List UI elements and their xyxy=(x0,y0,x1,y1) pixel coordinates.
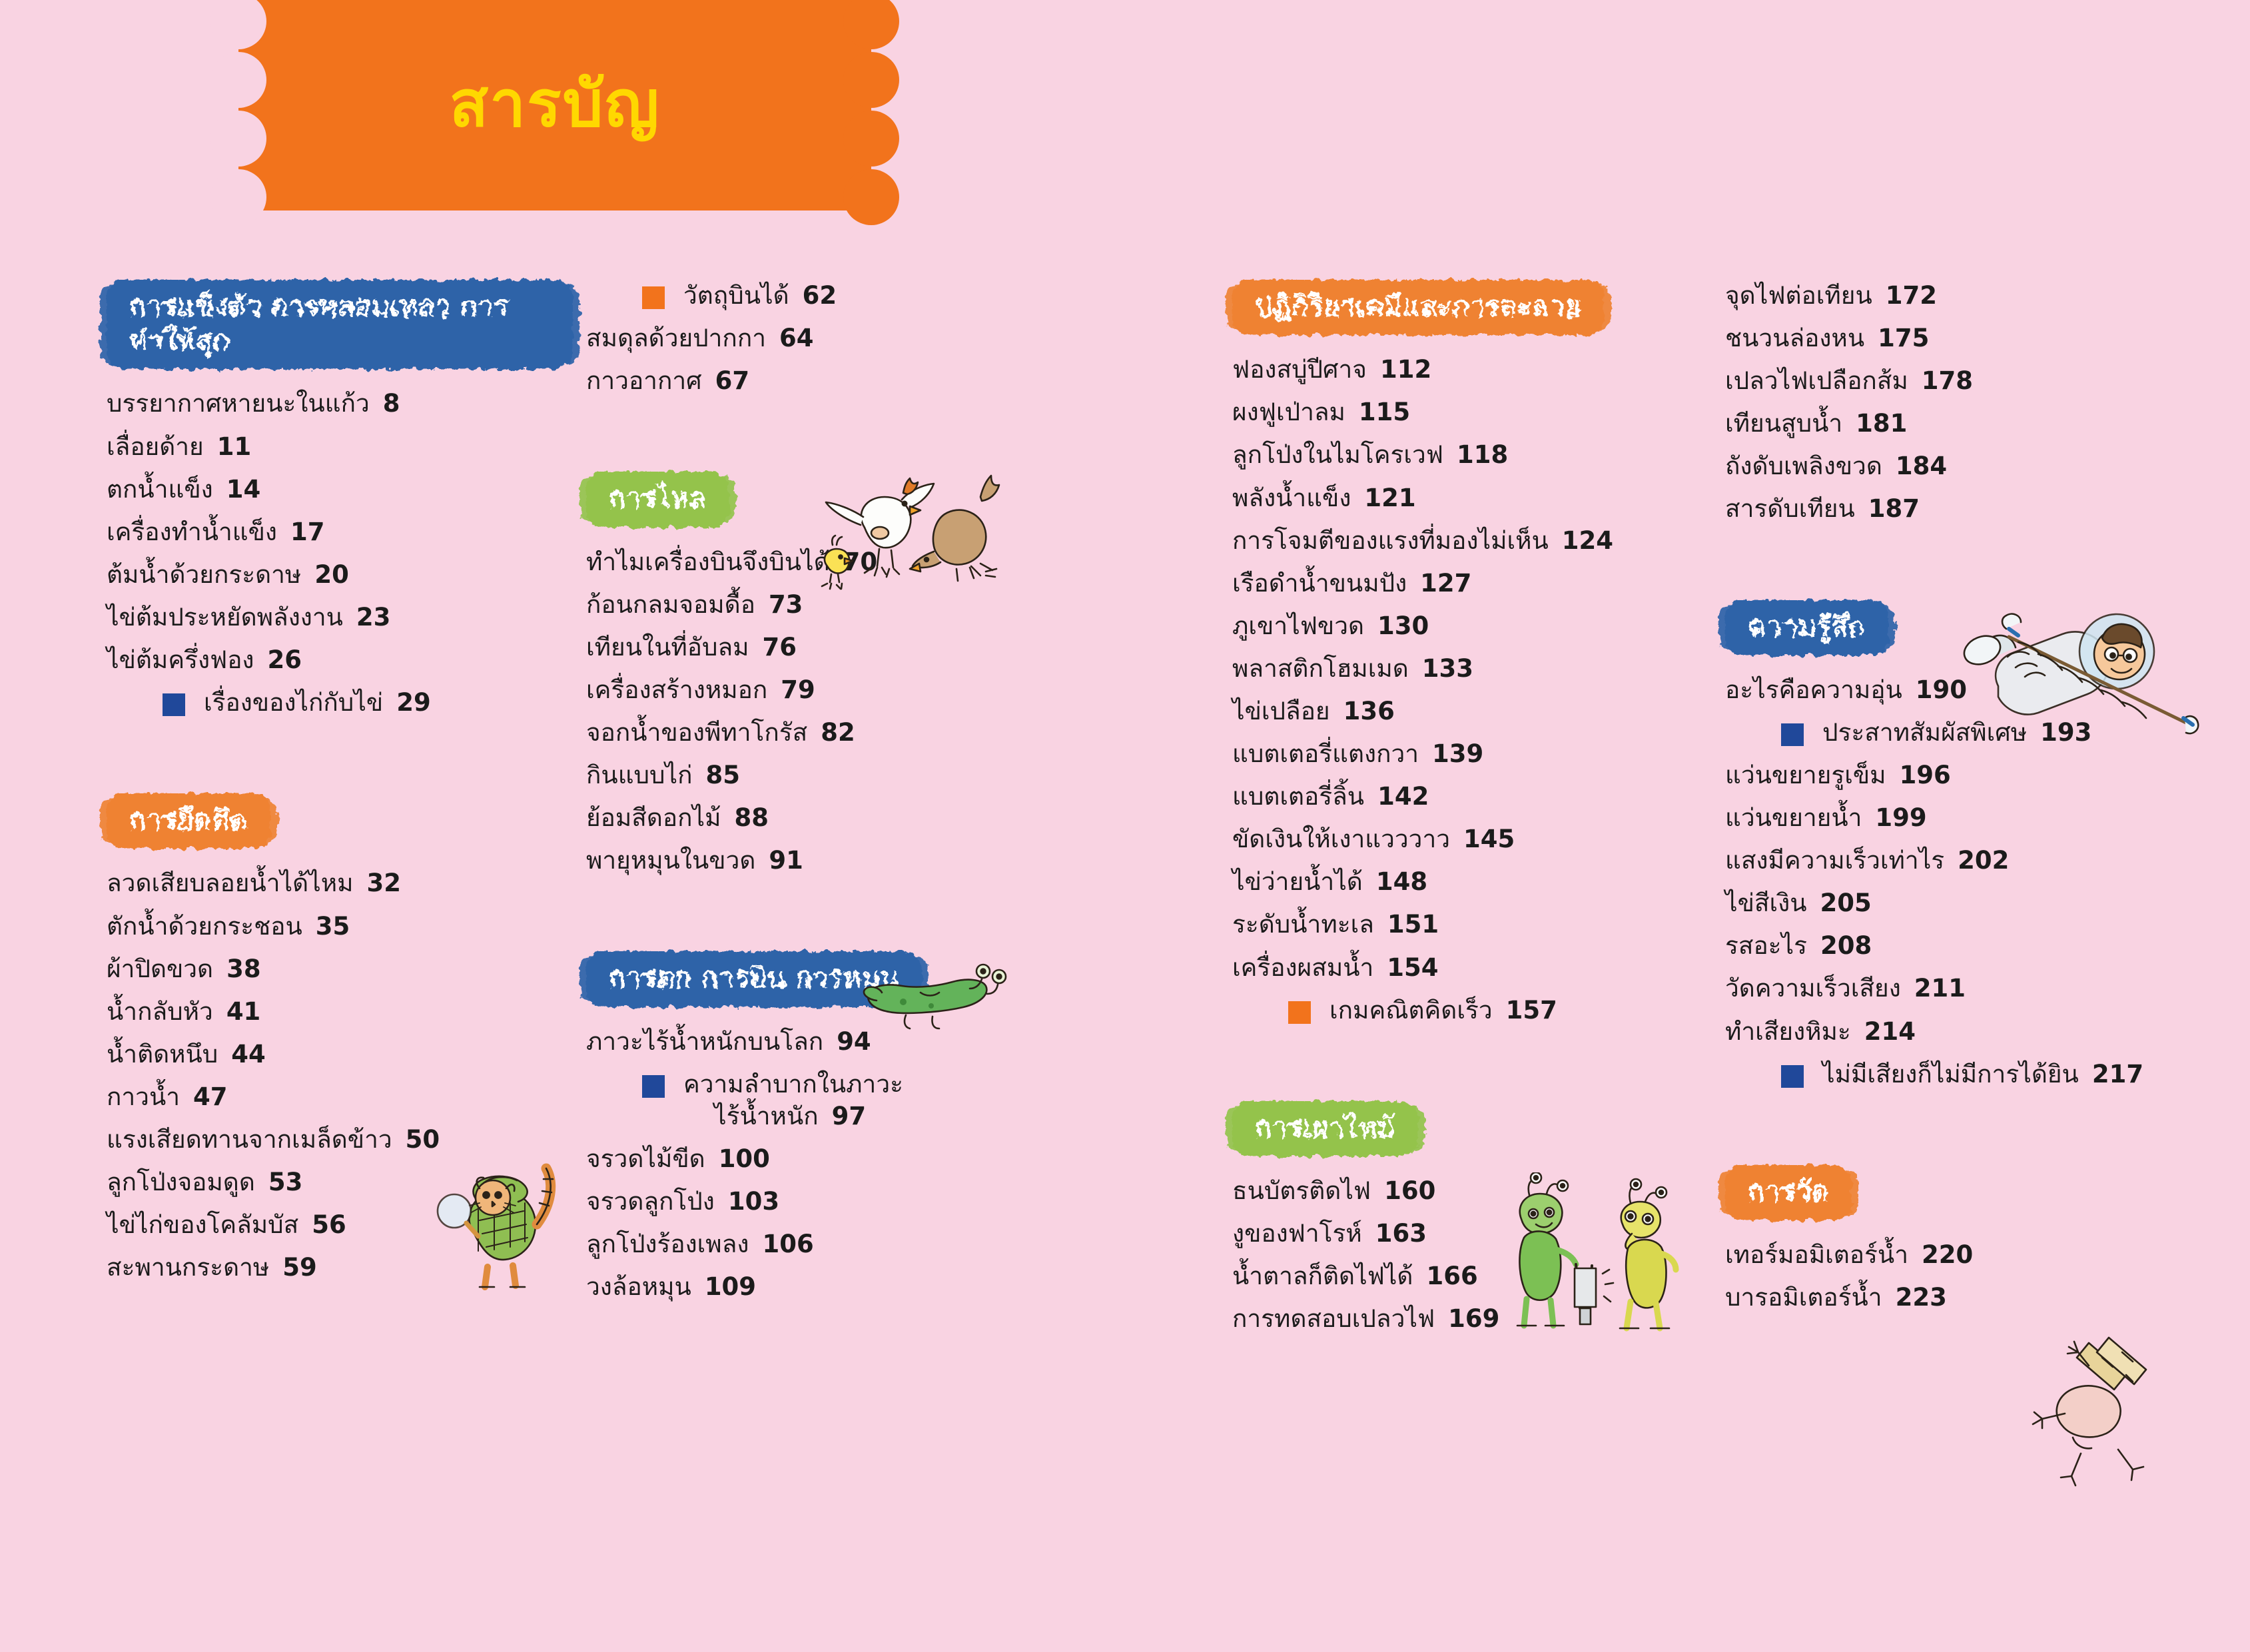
scallop-notch xyxy=(210,0,266,49)
toc-entry-page: 136 xyxy=(1343,695,1395,727)
toc-entry[interactable]: เลื่อยด้าย11 xyxy=(107,431,573,463)
spacer xyxy=(1725,666,2231,674)
toc-entry-title: วัดความเร็วเสียง xyxy=(1725,973,1901,1005)
toc-entry-page: 70 xyxy=(843,546,878,578)
toc-entry[interactable]: ต้มน้ำด้วยกระดาษ20 xyxy=(107,559,573,591)
toc-entry[interactable]: จอกน้ำของพีทาโกรัส82 xyxy=(586,717,1052,749)
toc-entry-page: 103 xyxy=(728,1186,779,1218)
toc-entry-page: 44 xyxy=(231,1038,266,1070)
spacer xyxy=(1232,1167,1752,1175)
toc-entry-page: 23 xyxy=(356,602,391,633)
toc-entry-title: ตกน้ำแข็ง xyxy=(107,474,213,506)
bullet-square-icon xyxy=(1781,1065,1804,1088)
toc-entry-page: 145 xyxy=(1463,823,1515,855)
toc-entry-title: ไม่มีเสียงก็ไม่มีการได้ยิน xyxy=(1822,1058,2079,1090)
toc-entry-page: 124 xyxy=(1562,525,1613,557)
toc-entry[interactable]: ไข่ไก่ของโคลัมบัส56 xyxy=(107,1209,573,1241)
toc-entry[interactable]: รสอะไร208 xyxy=(1725,930,2231,962)
toc-entry-title: ความลำบากในภาวะ xyxy=(683,1068,903,1100)
toc-entry-title: ขัดเงินให้เงาแวววาว xyxy=(1232,823,1450,855)
toc-entry-page: 94 xyxy=(837,1026,871,1058)
spacer xyxy=(586,1018,1052,1026)
toc-entry-page: 133 xyxy=(1422,653,1473,685)
toc-entry-title-cont: ไร้น้ำหนัก xyxy=(714,1102,819,1130)
toc-entry-title: ไข่ไก่ของโคลัมบัส xyxy=(107,1209,298,1241)
toc-entry-page: 193 xyxy=(2040,717,2091,749)
toc-entry-page: 85 xyxy=(706,759,741,791)
toc-entry-title: ระดับน้ำทะเล xyxy=(1232,909,1374,941)
spacer xyxy=(1232,1037,1752,1101)
spacer xyxy=(586,538,1052,546)
toc-entry[interactable]: จรวดลูกโป่ง103 xyxy=(586,1186,1052,1218)
toc-entry-page: 20 xyxy=(314,559,349,591)
section-header-wrap: การไหล xyxy=(586,472,1052,538)
toc-entry-page: 151 xyxy=(1387,909,1439,941)
toc-entry-title: เครื่องทำน้ำแข็ง xyxy=(107,516,277,548)
toc-entry[interactable]: อะไรคือความอุ่น190 xyxy=(1725,674,2231,706)
spacer xyxy=(107,729,573,793)
toc-entry-page: 82 xyxy=(821,717,855,749)
section-header-wrap: การแข็งตัว การหลอมเหลว การทำให้สุก xyxy=(107,280,573,380)
toc-entry-title: แรงเสียดทานจากเมล็ดข้าว xyxy=(107,1124,392,1156)
toc-entry-page: 8 xyxy=(383,388,400,420)
toc-entry-page: 223 xyxy=(1896,1282,1947,1314)
toc-entry-title: บารอมิเตอร์น้ำ xyxy=(1725,1282,1882,1314)
toc-entry-title: ทำเสียงหิมะ xyxy=(1725,1016,1851,1048)
section-heading: การแข็งตัว การหลอมเหลว การทำให้สุก xyxy=(107,280,573,369)
section-heading: ปฏิกิริยาเคมีและการละลาย xyxy=(1232,280,1604,335)
toc-entry-page: 62 xyxy=(803,280,837,312)
toc-entry[interactable]: สมดุลด้วยปากกา64 xyxy=(586,322,1052,354)
toc-entry-title: เรือดำน้ำขนมปัง xyxy=(1232,568,1407,600)
toc-entry-page: 148 xyxy=(1376,866,1427,898)
toc-entry[interactable]: ขัดเงินให้เงาแวววาว145 xyxy=(1232,823,1752,855)
toc-entry-title-line2: ไร้น้ำหนัก97 xyxy=(683,1100,903,1132)
toc-entry[interactable]: เทียนในที่อับลม76 xyxy=(586,631,1052,663)
section-header-wrap: การวัด xyxy=(1725,1165,2231,1231)
section-heading: ความรู้สึก xyxy=(1725,600,1888,655)
toc-entry-page: 73 xyxy=(769,589,803,621)
toc-entry[interactable]: เรื่องของไก่กับไข่29 xyxy=(107,687,573,719)
toc-entry-title: ไข่เปลือย xyxy=(1232,695,1330,727)
scallop-bump xyxy=(843,169,899,225)
toc-entry[interactable]: ลูกโป่งจอมดูด53 xyxy=(107,1166,573,1198)
toc-entry-title: ธนบัตรติดไฟ xyxy=(1232,1175,1371,1207)
toc-entry[interactable]: ธนบัตรติดไฟ160 xyxy=(1232,1175,1752,1207)
toc-entry-title: แสงมีความเร็วเท่าไร xyxy=(1725,845,1944,877)
toc-entry[interactable]: แว่นขยายน้ำ199 xyxy=(1725,802,2231,834)
spacer xyxy=(1725,1231,2231,1239)
toc-entry-title: ไข่ต้มประหยัดพลังงาน xyxy=(107,602,343,633)
toc-entry-title: จรวดลูกโป่ง xyxy=(586,1186,715,1218)
toc-entry[interactable]: ไข่สีเงิน205 xyxy=(1725,887,2231,919)
toc-entry-title: เทอร์มอมิเตอร์น้ำ xyxy=(1725,1239,1908,1271)
toc-entry-page: 184 xyxy=(1896,450,1947,482)
toc-entry-page: 67 xyxy=(715,365,750,397)
toc-entry[interactable]: ย้อมสีดอกไม้88 xyxy=(586,802,1052,834)
title-banner: สารบัญ xyxy=(238,0,871,210)
toc-columns: การแข็งตัว การหลอมเหลว การทำให้สุกบรรยาก… xyxy=(0,280,2250,1545)
toc-entry-title: ชนวนล่องหน xyxy=(1725,322,1864,354)
toc-entry[interactable]: แบตเตอรี่แตงกวา139 xyxy=(1232,738,1752,770)
toc-entry[interactable]: ผงฟูเป่าลม115 xyxy=(1232,396,1752,428)
toc-entry[interactable]: บรรยากาศหายนะในแก้ว8 xyxy=(107,388,573,420)
toc-column-1: การแข็งตัว การหลอมเหลว การทำให้สุกบรรยาก… xyxy=(107,280,573,1294)
toc-entry[interactable]: พลังน้ำแข็ง121 xyxy=(1232,482,1752,514)
toc-entry-page: 190 xyxy=(1916,674,1967,706)
toc-entry-title: พลังน้ำแข็ง xyxy=(1232,482,1351,514)
toc-entry[interactable]: เทอร์มอมิเตอร์น้ำ220 xyxy=(1725,1239,2231,1271)
toc-entry-page: 100 xyxy=(719,1143,770,1175)
spacer xyxy=(107,380,573,388)
toc-entry-page: 175 xyxy=(1878,322,1929,354)
toc-entry-title: อะไรคือความอุ่น xyxy=(1725,674,1902,706)
toc-entry-title: จรวดไม้ขีด xyxy=(586,1143,705,1175)
toc-entry-page: 205 xyxy=(1820,887,1872,919)
toc-entry[interactable]: ภูเขาไฟขวด130 xyxy=(1232,610,1752,642)
toc-entry-title: เทียนในที่อับลม xyxy=(586,631,749,663)
toc-entry-page: 139 xyxy=(1432,738,1483,770)
toc-entry[interactable]: บารอมิเตอร์น้ำ223 xyxy=(1725,1282,2231,1314)
toc-column-2: วัตถุบินได้62สมดุลด้วยปากกา64กาวอากาศ67ก… xyxy=(586,280,1052,1314)
scallop-notch xyxy=(210,169,266,225)
toc-entry-page: 59 xyxy=(282,1252,317,1284)
toc-entry-page: 166 xyxy=(1426,1260,1477,1292)
toc-entry[interactable]: จรวดไม้ขีด100 xyxy=(586,1143,1052,1175)
toc-entry-page: 109 xyxy=(705,1271,756,1303)
toc-entry[interactable]: ชนวนล่องหน175 xyxy=(1725,322,2231,354)
toc-entry-page: 199 xyxy=(1875,802,1926,834)
toc-entry-page: 56 xyxy=(312,1209,346,1241)
toc-entry-title: ถังดับเพลิงขวด xyxy=(1725,450,1882,482)
toc-entry-page: 127 xyxy=(1420,568,1471,600)
toc-entry-title: ย้อมสีดอกไม้ xyxy=(586,802,721,834)
toc-entry-page: 64 xyxy=(779,322,814,354)
toc-entry-title: น้ำติดหนึบ xyxy=(107,1038,218,1070)
toc-entry-title: เปลวไฟเปลือกส้ม xyxy=(1725,365,1908,397)
bullet-square-icon xyxy=(642,1075,665,1098)
toc-entry-page: 38 xyxy=(226,953,261,985)
toc-column-4: จุดไฟต่อเทียน172ชนวนล่องหน175เปลวไฟเปลือ… xyxy=(1725,280,2231,1324)
toc-entry[interactable]: การทดสอบเปลวไฟ169 xyxy=(1232,1303,1752,1335)
toc-entry-page: 214 xyxy=(1864,1016,1916,1048)
page-title: สารบัญ xyxy=(238,72,871,136)
toc-entry-title: พายุหมุนในขวด xyxy=(586,845,755,877)
toc-entry-page: 106 xyxy=(762,1228,813,1260)
toc-entry[interactable]: วงล้อหมุน109 xyxy=(586,1271,1052,1303)
toc-entry-title: การทดสอบเปลวไฟ xyxy=(1232,1303,1435,1335)
toc-entry-title: จุดไฟต่อเทียน xyxy=(1725,280,1872,312)
toc-entry[interactable]: แรงเสียดทานจากเมล็ดข้าว50 xyxy=(107,1124,573,1156)
toc-entry[interactable]: ความลำบากในภาวะไร้น้ำหนัก97 xyxy=(586,1068,1052,1132)
toc-entry[interactable]: วัตถุบินได้62 xyxy=(586,280,1052,312)
bullet-square-icon xyxy=(163,693,185,716)
spacer xyxy=(586,408,1052,472)
toc-entry-title: สะพานกระดาษ xyxy=(107,1252,269,1284)
toc-entry-page: 181 xyxy=(1856,408,1907,440)
toc-entry-title: แบตเตอรี่แตงกวา xyxy=(1232,738,1419,770)
toc-entry-page: 160 xyxy=(1384,1175,1435,1207)
toc-entry[interactable]: ลูกโป่งร้องเพลง106 xyxy=(586,1228,1052,1260)
section-heading: การตก การบิน การหมุน xyxy=(586,951,922,1007)
toc-entry-page: 202 xyxy=(1958,845,2009,877)
toc-entry[interactable]: เครื่องสร้างหมอก79 xyxy=(586,674,1052,706)
toc-entry-page: 79 xyxy=(781,674,815,706)
section-header-wrap: การยึดติด xyxy=(107,793,573,859)
toc-entry[interactable]: กาวอากาศ67 xyxy=(586,365,1052,397)
toc-entry-page: 163 xyxy=(1375,1218,1427,1250)
toc-entry[interactable]: เครื่องทำน้ำแข็ง17 xyxy=(107,516,573,548)
toc-entry-title: ลูกโป่งร้องเพลง xyxy=(586,1228,749,1260)
toc-entry-title: วงล้อหมุน xyxy=(586,1271,691,1303)
toc-entry-page: 47 xyxy=(193,1081,228,1113)
toc-entry-page: 220 xyxy=(1922,1239,1973,1271)
toc-entry[interactable]: วัดความเร็วเสียง211 xyxy=(1725,973,2231,1005)
toc-entry-page: 211 xyxy=(1914,973,1966,1005)
bullet-square-icon xyxy=(1288,1001,1311,1024)
toc-entry-title: บรรยากาศหายนะในแก้ว xyxy=(107,388,370,420)
section-heading: การวัด xyxy=(1725,1165,1852,1220)
toc-entry-page: 35 xyxy=(316,911,350,943)
toc-entry[interactable]: ทำเสียงหิมะ214 xyxy=(1725,1016,2231,1048)
toc-entry[interactable]: ก้อนกลมจอมดื้อ73 xyxy=(586,589,1052,621)
toc-entry[interactable]: ตกน้ำแข็ง14 xyxy=(107,474,573,506)
toc-entry[interactable]: น้ำติดหนึบ44 xyxy=(107,1038,573,1070)
toc-entry[interactable]: ภาวะไร้น้ำหนักบนโลก94 xyxy=(586,1026,1052,1058)
toc-entry[interactable]: ไข่เปลือย136 xyxy=(1232,695,1752,727)
toc-entry-title: ผ้าปิดขวด xyxy=(107,953,213,985)
toc-entry-page: 29 xyxy=(396,687,431,719)
toc-entry[interactable]: เกมคณิตคิดเร็ว157 xyxy=(1232,995,1752,1027)
toc-entry-page: 217 xyxy=(2092,1058,2143,1090)
toc-entry-title: พลาสติกโฮมเมด xyxy=(1232,653,1409,685)
toc-entry-page: 88 xyxy=(735,802,769,834)
toc-entry-page: 11 xyxy=(217,431,252,463)
toc-entry[interactable]: กินแบบไก่85 xyxy=(586,759,1052,791)
toc-entry-title: เครื่องผสมน้ำ xyxy=(1232,952,1373,984)
toc-entry-title: จอกน้ำของพีทาโกรัส xyxy=(586,717,807,749)
toc-entry[interactable]: ลวดเสียบลอยน้ำได้ไหม32 xyxy=(107,867,573,899)
toc-entry-page: 208 xyxy=(1820,930,1872,962)
section-heading: การยึดติด xyxy=(107,793,270,849)
toc-entry-page: 112 xyxy=(1380,354,1431,386)
toc-entry-page: 97 xyxy=(832,1102,867,1130)
spacer xyxy=(1725,536,2231,600)
spacer xyxy=(1232,346,1752,354)
spacer xyxy=(586,887,1052,951)
toc-entry-page: 121 xyxy=(1364,482,1415,514)
toc-entry-page: 142 xyxy=(1377,781,1429,813)
toc-entry[interactable]: ถังดับเพลิงขวด184 xyxy=(1725,450,2231,482)
toc-entry-title: ต้มน้ำด้วยกระดาษ xyxy=(107,559,301,591)
spacer xyxy=(107,859,573,867)
toc-entry-title: แบตเตอรี่ลิ้น xyxy=(1232,781,1364,813)
toc-entry-title: ลูกโป่งจอมดูด xyxy=(107,1166,255,1198)
toc-entry-title: สารดับเทียน xyxy=(1725,493,1855,525)
toc-entry[interactable]: แบตเตอรี่ลิ้น142 xyxy=(1232,781,1752,813)
toc-entry-title: แว่นขยายรูเข็ม xyxy=(1725,759,1886,791)
toc-entry-page: 26 xyxy=(268,644,302,676)
toc-entry-title: ลวดเสียบลอยน้ำได้ไหม xyxy=(107,867,354,899)
toc-entry[interactable]: ผ้าปิดขวด38 xyxy=(107,953,573,985)
toc-entry-page: 14 xyxy=(226,474,261,506)
toc-entry-title: เครื่องสร้างหมอก xyxy=(586,674,767,706)
toc-entry-title: น้ำตาลก็ติดไฟได้ xyxy=(1232,1260,1413,1292)
toc-entry-title: เทียนสูบน้ำ xyxy=(1725,408,1842,440)
bullet-square-icon xyxy=(1781,723,1804,746)
toc-entry-title: ทำไมเครื่องบินจึงบินได้ xyxy=(586,546,830,578)
toc-entry-title: กินแบบไก่ xyxy=(586,759,693,791)
toc-entry-page: 17 xyxy=(290,516,325,548)
section-header-wrap: ความรู้สึก xyxy=(1725,600,2231,666)
toc-entry-title: ไข่ต้มครึ่งฟอง xyxy=(107,644,254,676)
toc-entry-title: กาวอากาศ xyxy=(586,365,702,397)
toc-entry-page: 41 xyxy=(226,996,261,1028)
toc-entry[interactable]: สารดับเทียน187 xyxy=(1725,493,2231,525)
section-header-wrap: การตก การบิน การหมุน xyxy=(586,951,1052,1017)
toc-entry[interactable]: เรือดำน้ำขนมปัง127 xyxy=(1232,568,1752,600)
toc-entry-title: ไข่สีเงิน xyxy=(1725,887,1807,919)
toc-entry-title: เกมคณิตคิดเร็ว xyxy=(1329,995,1493,1027)
scallop-bump xyxy=(843,0,899,49)
toc-entry-page: 130 xyxy=(1377,610,1429,642)
toc-entry-title: ลูกโป่งในไมโครเวฟ xyxy=(1232,439,1443,471)
toc-entry-title: ภูเขาไฟขวด xyxy=(1232,610,1364,642)
toc-entry-page: 91 xyxy=(769,845,803,877)
toc-entry-page: 178 xyxy=(1922,365,1973,397)
toc-entry[interactable]: พายุหมุนในขวด91 xyxy=(586,845,1052,877)
toc-entry-title: น้ำกลับหัว xyxy=(107,996,213,1028)
toc-entry[interactable]: จุดไฟต่อเทียน172 xyxy=(1725,280,2231,312)
toc-entry-page: 196 xyxy=(1900,759,1951,791)
section-heading: การเผาไหม้ xyxy=(1232,1101,1418,1156)
toc-entry[interactable]: ประสาทสัมผัสพิเศษ193 xyxy=(1725,717,2231,749)
toc-entry[interactable]: เครื่องผสมน้ำ154 xyxy=(1232,952,1752,984)
toc-entry-title: การโจมตีของแรงที่มองไม่เห็น xyxy=(1232,525,1549,557)
section-header-wrap: ปฏิกิริยาเคมีและการละลาย xyxy=(1232,280,1752,346)
toc-entry-page: 32 xyxy=(367,867,402,899)
toc-entry-title: สมดุลด้วยปากกา xyxy=(586,322,766,354)
section-header-wrap: การเผาไหม้ xyxy=(1232,1101,1752,1167)
toc-entry-page: 154 xyxy=(1387,952,1438,984)
toc-entry[interactable]: สะพานกระดาษ59 xyxy=(107,1252,573,1284)
toc-entry-page: 115 xyxy=(1359,396,1410,428)
toc-entry-title: ตักน้ำด้วยกระชอน xyxy=(107,911,302,943)
toc-entry-title: เลื่อยด้าย xyxy=(107,431,204,463)
toc-entry-page: 53 xyxy=(268,1166,303,1198)
toc-entry-title: รสอะไร xyxy=(1725,930,1807,962)
toc-entry-page: 187 xyxy=(1868,493,1920,525)
toc-entry[interactable]: ตักน้ำด้วยกระชอน35 xyxy=(107,911,573,943)
toc-entry[interactable]: พลาสติกโฮมเมด133 xyxy=(1232,653,1752,685)
toc-entry[interactable]: ฟองสบู่ปีศาจ112 xyxy=(1232,354,1752,386)
toc-entry[interactable]: ทำไมเครื่องบินจึงบินได้70 xyxy=(586,546,1052,578)
toc-entry[interactable]: กาวน้ำ47 xyxy=(107,1081,573,1113)
toc-entry-title: ก้อนกลมจอมดื้อ xyxy=(586,589,755,621)
toc-entry-title: งูของฟาโรห์ xyxy=(1232,1218,1362,1250)
toc-entry-title: ประสาทสัมผัสพิเศษ xyxy=(1822,717,2027,749)
toc-entry[interactable]: น้ำกลับหัว41 xyxy=(107,996,573,1028)
toc-entry[interactable]: ไม่มีเสียงก็ไม่มีการได้ยิน217 xyxy=(1725,1058,2231,1090)
toc-entry-title: ภาวะไร้น้ำหนักบนโลก xyxy=(586,1026,823,1058)
toc-entry[interactable]: ไข่ว่ายน้ำได้148 xyxy=(1232,866,1752,898)
toc-entry-title: ผงฟูเป่าลม xyxy=(1232,396,1345,428)
toc-entry-title: ฟองสบู่ปีศาจ xyxy=(1232,354,1367,386)
toc-entry-title: วัตถุบินได้ xyxy=(683,280,789,312)
toc-entry[interactable]: ระดับน้ำทะเล151 xyxy=(1232,909,1752,941)
spacer xyxy=(1725,1101,2231,1165)
toc-entry[interactable]: ลูกโป่งในไมโครเวฟ118 xyxy=(1232,439,1752,471)
toc-entry-page: 169 xyxy=(1448,1303,1499,1335)
toc-entry[interactable]: การโจมตีของแรงที่มองไม่เห็น124 xyxy=(1232,525,1752,557)
toc-entry-title: กาวน้ำ xyxy=(107,1081,180,1113)
toc-entry[interactable]: ไข่ต้มประหยัดพลังงาน23 xyxy=(107,602,573,633)
toc-entry[interactable]: เปลวไฟเปลือกส้ม178 xyxy=(1725,365,2231,397)
toc-entry[interactable]: งูของฟาโรห์163 xyxy=(1232,1218,1752,1250)
toc-entry[interactable]: ไข่ต้มครึ่งฟอง26 xyxy=(107,644,573,676)
toc-column-3: ปฏิกิริยาเคมีและการละลายฟองสบู่ปีศาจ112ผ… xyxy=(1232,280,1752,1346)
toc-entry-page: 50 xyxy=(406,1124,440,1156)
toc-entry-page: 157 xyxy=(1506,995,1557,1027)
toc-entry-title: ไข่ว่ายน้ำได้ xyxy=(1232,866,1363,898)
toc-entry[interactable]: แสงมีความเร็วเท่าไร202 xyxy=(1725,845,2231,877)
toc-entry[interactable]: น้ำตาลก็ติดไฟได้166 xyxy=(1232,1260,1752,1292)
toc-entry-page: 172 xyxy=(1886,280,1937,312)
toc-entry-title: เรื่องของไก่กับไข่ xyxy=(204,687,383,719)
section-heading: การไหล xyxy=(586,472,729,527)
toc-entry[interactable]: เทียนสูบน้ำ181 xyxy=(1725,408,2231,440)
toc-entry[interactable]: แว่นขยายรูเข็ม196 xyxy=(1725,759,2231,791)
toc-entry-page: 76 xyxy=(763,631,797,663)
bullet-square-icon xyxy=(642,286,665,309)
toc-entry-title: แว่นขยายน้ำ xyxy=(1725,802,1862,834)
toc-entry-page: 118 xyxy=(1457,439,1508,471)
